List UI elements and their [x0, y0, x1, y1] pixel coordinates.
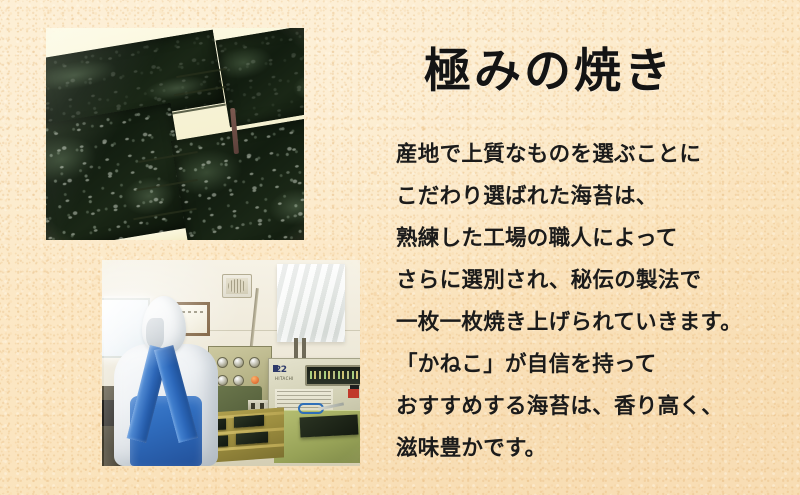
body-line: おすすめする海苔は、香り高く、: [396, 386, 788, 428]
factory-worker-figure: [104, 296, 228, 466]
nori-stack-on-table: [300, 414, 359, 437]
promotional-banner: 22 HITACHI: [0, 0, 800, 495]
body-line: 産地で上質なものを選ぶことに: [396, 134, 788, 176]
body-line: 熟練した工場の職人によって: [396, 218, 788, 260]
body-line: 一枚一枚焼き上げられていきます。: [396, 302, 788, 344]
body-line: こだわり選ばれた海苔は、: [396, 176, 788, 218]
body-line: 「かねこ」が自信を持って: [396, 344, 788, 386]
machine-tag-red: [348, 389, 359, 398]
nori-sheet: [216, 28, 304, 127]
body-line: 滋味豊かです。: [396, 428, 788, 470]
duct-neck: [302, 338, 306, 360]
photo-nori-sheets: [46, 28, 304, 240]
control-knob: [233, 375, 244, 386]
nori-on-belt: [236, 432, 268, 445]
duct-neck: [294, 338, 298, 360]
exhaust-hood-duct: [277, 264, 345, 342]
worker-lighting-shade: [104, 296, 228, 466]
page-title: 極みの焼き: [424, 48, 674, 95]
machine-number-label: 22: [275, 366, 287, 375]
machine-brand-label: HITACHI: [275, 376, 294, 381]
nori-on-belt: [234, 415, 264, 428]
photo-factory-worker: 22 HITACHI: [102, 260, 360, 466]
nori-sheet: [46, 103, 191, 240]
wall-vent-fan: [222, 274, 252, 298]
control-knob: [233, 357, 244, 368]
handheld-tool: [298, 400, 344, 414]
control-knob: [249, 357, 260, 368]
body-line: さらに選別され、秘伝の製法で: [396, 260, 788, 302]
emergency-button: [251, 376, 259, 384]
body-copy: 産地で上質なものを選ぶことに こだわり選ばれた海苔は、 熟練した工場の職人によっ…: [396, 134, 788, 470]
machine-display-readout: [305, 365, 360, 386]
